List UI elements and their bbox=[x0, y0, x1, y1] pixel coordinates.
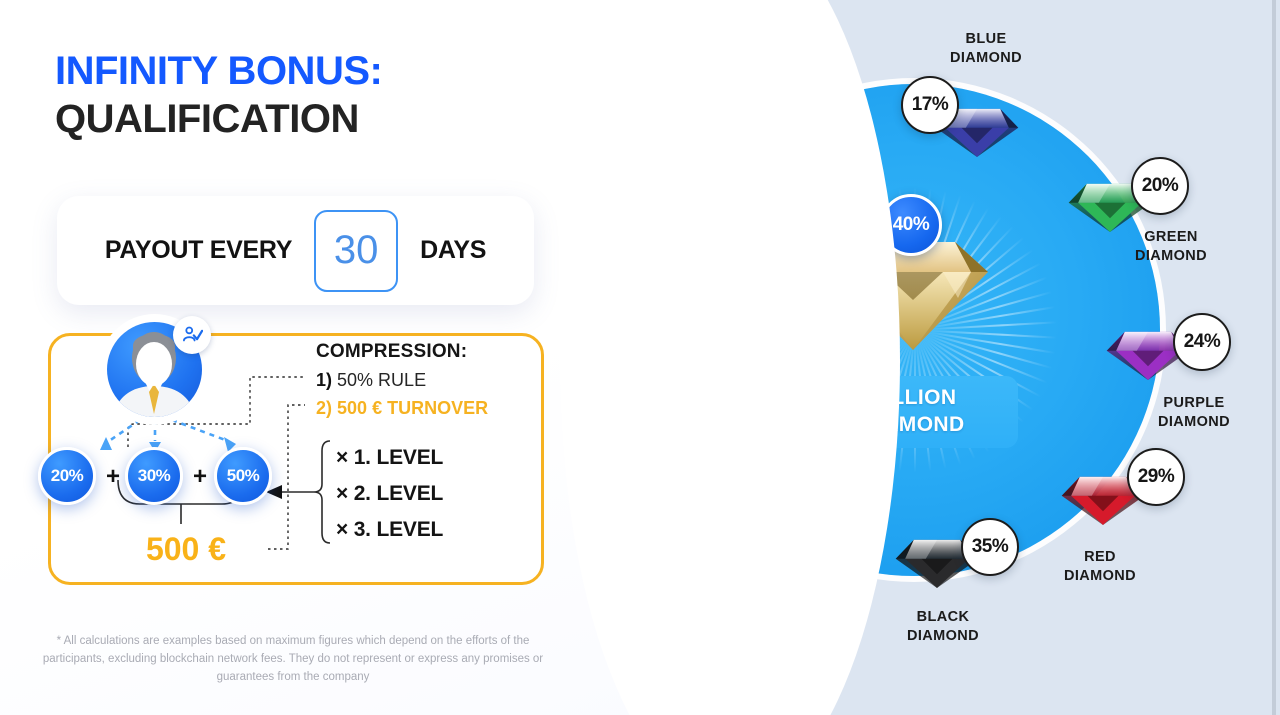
user-verified-icon bbox=[173, 316, 211, 354]
share-bubble-level2: 30% bbox=[125, 447, 183, 505]
payout-card: PAYOUT EVERY 30 DAYS bbox=[57, 196, 534, 305]
green-diamond-percent-badge: 20% bbox=[1131, 157, 1189, 215]
red-diamond-percent-badge: 29% bbox=[1127, 448, 1185, 506]
blue-diamond-percent: 17% bbox=[912, 94, 949, 116]
level-item-1: × 1. LEVEL bbox=[336, 440, 443, 476]
plus-sign-1: + bbox=[106, 463, 120, 491]
share-bubble-level3: 50% bbox=[214, 447, 272, 505]
avatar bbox=[103, 318, 206, 421]
page-title-line2: QUALIFICATION bbox=[55, 98, 382, 140]
level-item-3: × 3. LEVEL bbox=[336, 512, 443, 548]
share-bubble-level3-value: 50% bbox=[227, 466, 260, 486]
compression-rule-1-number: 1) bbox=[316, 370, 332, 390]
compression-rule-1: 1) 50% RULE bbox=[316, 370, 426, 391]
footnote: * All calculations are examples based on… bbox=[38, 633, 548, 686]
blue-diamond-label: BLUE DIAMOND bbox=[911, 30, 1061, 68]
left-white-sweep bbox=[560, 0, 900, 715]
panel-right-edge bbox=[1272, 0, 1276, 715]
billion-diamond-percent: 40% bbox=[893, 214, 930, 236]
share-bubble-level2-value: 30% bbox=[138, 466, 171, 486]
turnover-total: 500 € bbox=[106, 531, 266, 568]
verified-user-glyph bbox=[181, 324, 203, 346]
blue-diamond-percent-badge: 17% bbox=[901, 76, 959, 134]
compression-rule-2-number: 2) bbox=[316, 398, 332, 418]
purple-diamond-label: PURPLE DIAMOND bbox=[1119, 394, 1269, 432]
payout-days-value[interactable]: 30 bbox=[314, 210, 398, 292]
green-diamond-percent: 20% bbox=[1142, 175, 1179, 197]
green-diamond-label: GREEN DIAMOND bbox=[1096, 228, 1246, 266]
plus-sign-2: + bbox=[193, 463, 207, 491]
page-title: INFINITY BONUS: QUALIFICATION bbox=[55, 50, 382, 141]
level-list: × 1. LEVEL × 2. LEVEL × 3. LEVEL bbox=[336, 440, 443, 548]
red-diamond-percent: 29% bbox=[1138, 466, 1175, 488]
compression-rule-2-text: 500 € TURNOVER bbox=[337, 398, 488, 418]
page-title-line1: INFINITY BONUS: bbox=[55, 50, 382, 92]
black-diamond-percent-badge: 35% bbox=[961, 518, 1019, 576]
red-diamond-label: RED DIAMOND bbox=[1025, 548, 1175, 586]
payout-suffix-label: DAYS bbox=[420, 236, 486, 265]
infographic-root: 40% BILLION DIAMOND 15%DIAMOND bbox=[0, 0, 1280, 715]
level-item-2: × 2. LEVEL bbox=[336, 476, 443, 512]
compression-rule-1-text: 50% RULE bbox=[337, 370, 426, 390]
share-bubble-level1-value: 20% bbox=[51, 466, 84, 486]
compression-rule-2: 2) 500 € TURNOVER bbox=[316, 398, 488, 419]
black-diamond-percent: 35% bbox=[972, 536, 1009, 558]
share-bubble-level1: 20% bbox=[38, 447, 96, 505]
purple-diamond-percent-badge: 24% bbox=[1173, 313, 1231, 371]
payout-prefix-label: PAYOUT EVERY bbox=[105, 236, 292, 265]
purple-diamond-percent: 24% bbox=[1184, 331, 1221, 353]
black-diamond-label: BLACK DIAMOND bbox=[868, 608, 1018, 646]
compression-title: COMPRESSION: bbox=[316, 341, 467, 363]
